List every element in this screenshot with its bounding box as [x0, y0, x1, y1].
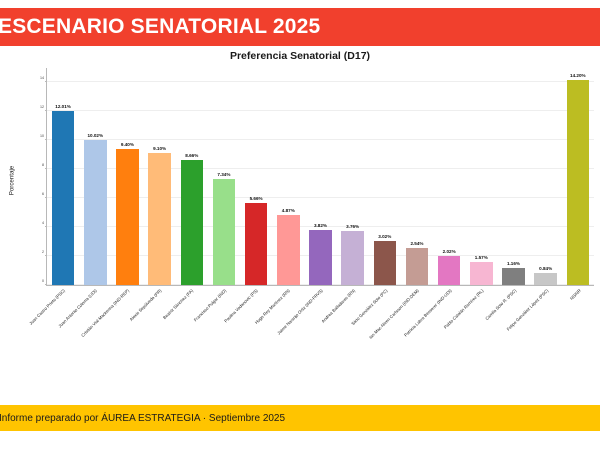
bar-series: 12.01%10.02%9.40%9.10%8.66%7.34%5.66%4.8…	[47, 68, 594, 285]
x-label-slot: Camila Soto R. (PSC)	[497, 286, 529, 386]
y-tick-label: 12	[40, 105, 44, 109]
slide-root: ESCENARIO SENATORIAL 2025 Preferencia Se…	[0, 0, 600, 450]
bar-slot: 0.84%	[530, 68, 562, 285]
x-tick-label: Juan Castro Prieto (PSC)	[28, 288, 66, 326]
bar-value-label: 1.16%	[507, 261, 520, 266]
y-tick-label: 14	[40, 76, 44, 80]
bar[interactable]: 1.57%	[470, 262, 493, 285]
bar[interactable]: 12.01%	[52, 111, 75, 285]
x-label-slot: Andrea Balladares (RN)	[336, 286, 368, 386]
bar-slot: 7.34%	[208, 68, 240, 285]
bar-value-label: 2.02%	[443, 249, 456, 254]
x-label-slot: Alexis Sepúlveda (PR)	[143, 286, 175, 386]
x-label-slot: Cristián Vial Mackenna (IND-REP)	[110, 286, 142, 386]
x-label-slot: Juan Castro Prieto (PSC)	[46, 286, 78, 386]
y-tick-label: 2	[42, 250, 44, 254]
bar-slot: 8.66%	[176, 68, 208, 285]
bar[interactable]: 4.87%	[277, 215, 300, 285]
chart-title: Preferencia Senatorial (D17)	[0, 50, 600, 62]
x-label-slot: Pablo Catalán Ramírez (RL)	[465, 286, 497, 386]
bar-slot: 1.16%	[497, 68, 529, 285]
bar-value-label: 3.02%	[378, 234, 391, 239]
x-label-slot: Jaime Naranjo Ortiz (IND-FRVS)	[304, 286, 336, 386]
bar[interactable]: 1.16%	[502, 268, 525, 285]
bar[interactable]: 9.10%	[148, 153, 171, 285]
bar-slot: 3.82%	[304, 68, 336, 285]
bar[interactable]: 3.76%	[341, 231, 364, 285]
bar-value-label: 8.66%	[185, 153, 198, 158]
y-tick-label: 4	[42, 221, 44, 225]
x-axis-labels: Juan Castro Prieto (PSC)Juan Antonio Col…	[46, 286, 594, 386]
x-label-slot: NS/NR	[562, 286, 594, 386]
x-label-slot: Francisco Pulgar (IND)	[207, 286, 239, 386]
bar-slot: 9.10%	[144, 68, 176, 285]
bar-slot: 1.57%	[465, 68, 497, 285]
bar-slot: 2.54%	[401, 68, 433, 285]
bar[interactable]: 3.02%	[374, 241, 397, 285]
bar-slot: 12.01%	[47, 68, 79, 285]
x-label-slot: Beatriz Sánchez (FA)	[175, 286, 207, 386]
bar[interactable]: 9.40%	[116, 149, 139, 285]
bar-value-label: 9.10%	[153, 146, 166, 151]
bar-value-label: 1.57%	[475, 255, 488, 260]
x-label-slot: Paulina Vodanovic (PS)	[239, 286, 271, 386]
bar-slot: 3.76%	[337, 68, 369, 285]
bar-value-label: 2.54%	[410, 241, 423, 246]
bar[interactable]: 3.82%	[309, 230, 332, 285]
plot-area: 02468101214 12.01%10.02%9.40%9.10%8.66%7…	[46, 68, 594, 286]
y-tick-label: 0	[42, 279, 44, 283]
bar[interactable]: 14.20%	[567, 80, 590, 285]
y-tick-label: 8	[42, 163, 44, 167]
y-axis-label: Porcentaje	[9, 166, 16, 196]
bar[interactable]: 7.34%	[213, 179, 236, 285]
bar-value-label: 10.02%	[87, 133, 103, 138]
bar-value-label: 3.76%	[346, 224, 359, 229]
bar[interactable]: 2.54%	[406, 248, 429, 285]
footer-band: Informe preparado por ÁUREA ESTRATEGIA ·…	[0, 405, 600, 431]
bar-slot: 5.66%	[240, 68, 272, 285]
bar-value-label: 4.87%	[282, 208, 295, 213]
bar-slot: 9.40%	[111, 68, 143, 285]
footer-credit: Informe preparado por ÁUREA ESTRATEGIA ·…	[0, 413, 285, 424]
bar[interactable]: 8.66%	[181, 160, 204, 285]
y-tick-label: 6	[42, 192, 44, 196]
bar-value-label: 5.66%	[250, 196, 263, 201]
bar-value-label: 12.01%	[55, 104, 71, 109]
bar-slot: 3.02%	[369, 68, 401, 285]
bar[interactable]: 0.84%	[534, 273, 557, 285]
bar[interactable]: 5.66%	[245, 203, 268, 285]
page-title: ESCENARIO SENATORIAL 2025	[0, 15, 320, 39]
bar-slot: 14.20%	[562, 68, 594, 285]
x-label-slot: Felipe González López (PSC)	[530, 286, 562, 386]
bar-value-label: 3.82%	[314, 223, 327, 228]
bar[interactable]: 2.02%	[438, 256, 461, 285]
bar-slot: 4.87%	[272, 68, 304, 285]
bar-value-label: 0.84%	[539, 266, 552, 271]
bar-value-label: 9.40%	[121, 142, 134, 147]
bar-value-label: 7.34%	[217, 172, 230, 177]
bar[interactable]: 10.02%	[84, 140, 107, 285]
header-band: ESCENARIO SENATORIAL 2025	[0, 8, 600, 46]
x-label-slot: Hugo Rey Martínez (RN)	[272, 286, 304, 386]
x-label-slot: Patricia Labra Besserer (IND-UDI)	[433, 286, 465, 386]
bar-slot: 10.02%	[79, 68, 111, 285]
bar-slot: 2.02%	[433, 68, 465, 285]
chart-figure: Preferencia Senatorial (D17) Porcentaje …	[0, 46, 600, 404]
y-tick-label: 10	[40, 134, 44, 138]
bar-value-label: 14.20%	[570, 73, 586, 78]
x-tick-label: NS/NR	[568, 288, 581, 301]
